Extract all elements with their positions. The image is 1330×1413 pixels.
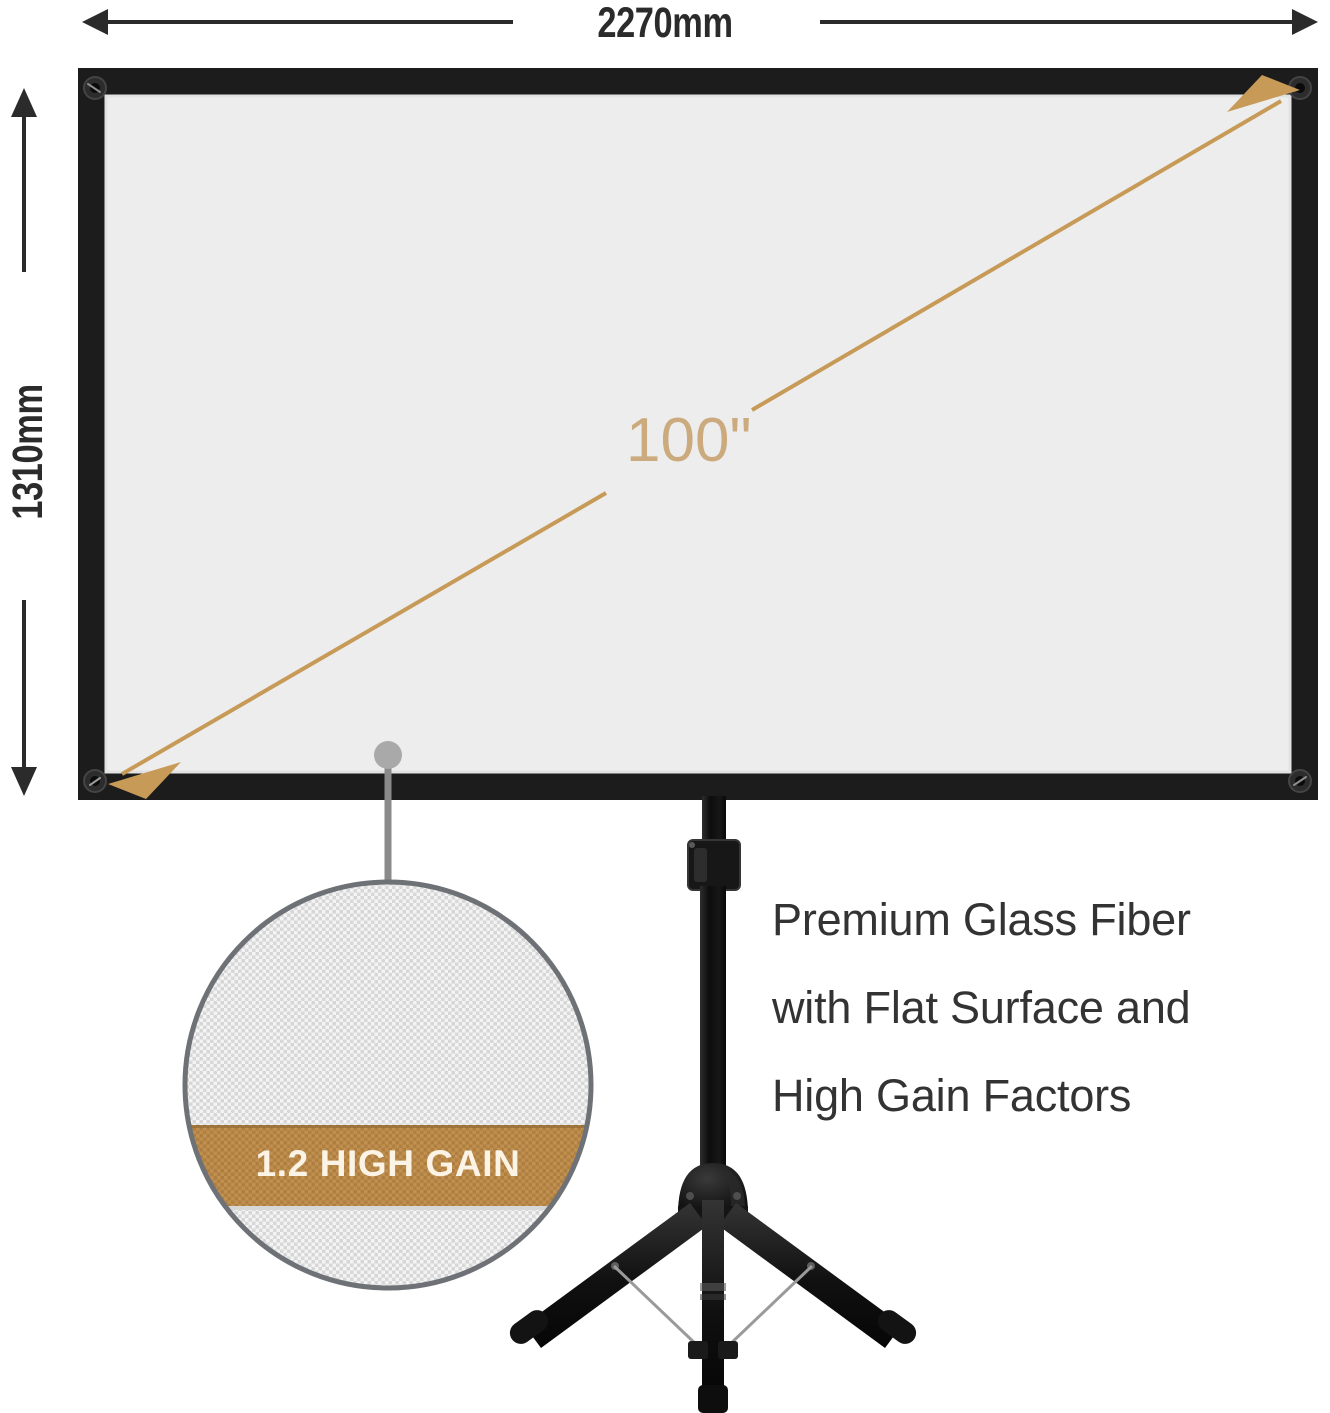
grommet-top-left (84, 77, 106, 99)
grommet-bottom-right (1289, 770, 1311, 792)
tripod-leg-center (698, 1200, 728, 1413)
feature-description: Premium Glass Fiber with Flat Surface an… (772, 876, 1328, 1140)
height-adjust-clamp[interactable] (688, 840, 740, 890)
stand-mast (700, 886, 726, 1166)
diagram-artwork (0, 0, 1330, 1413)
feature-line-3: High Gain Factors (772, 1052, 1328, 1140)
feature-line-2: with Flat Surface and (772, 964, 1328, 1052)
magnifier-callout-leader (374, 741, 402, 886)
height-dimension-line (11, 88, 37, 796)
feature-line-1: Premium Glass Fiber (772, 876, 1328, 964)
width-dimension-line (82, 9, 1318, 35)
fabric-magnifier (180, 882, 596, 1288)
product-diagram: 2270mm 1310mm (0, 0, 1330, 1413)
grommet-bottom-left (84, 770, 106, 792)
